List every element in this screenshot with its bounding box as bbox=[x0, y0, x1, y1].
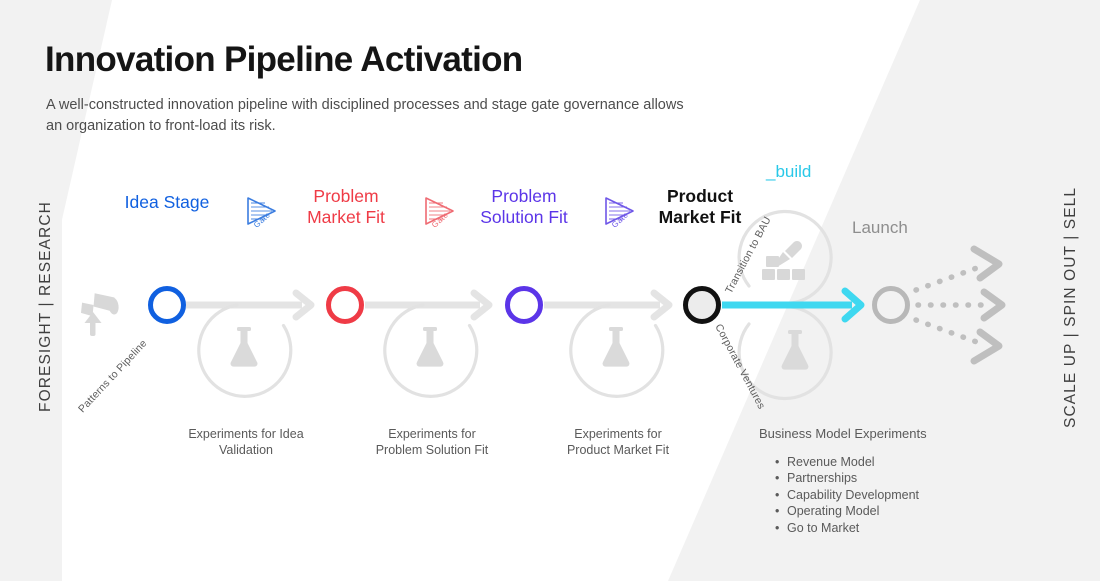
trowel-bricks-icon bbox=[762, 241, 805, 280]
stage-label-idea-stage: Idea Stage bbox=[97, 192, 237, 213]
flask-icon-build bbox=[782, 330, 809, 370]
diagram-canvas: Innovation Pipeline Activation A well-co… bbox=[0, 0, 1100, 581]
node-idea-stage[interactable] bbox=[148, 286, 186, 324]
stage-label-problem-solution-fit: Problem Solution Fit bbox=[459, 186, 589, 229]
experiment-caption-idea-validation: Experiments for Idea Validation bbox=[168, 426, 324, 459]
business-model-list: Revenue Model Partnerships Capability De… bbox=[775, 454, 919, 536]
list-item: Go to Market bbox=[775, 520, 919, 536]
experiment-caption-problem-solution-fit: Experiments for Problem Solution Fit bbox=[354, 426, 510, 459]
launch-label: Launch bbox=[852, 218, 908, 238]
stage-label-problem-market-fit: Problem Market Fit bbox=[281, 186, 411, 229]
business-model-title: Business Model Experiments bbox=[759, 426, 927, 441]
node-launch[interactable] bbox=[872, 286, 910, 324]
experiment-caption-product-market-fit: Experiments for Product Market Fit bbox=[540, 426, 696, 459]
build-label: _build bbox=[766, 162, 811, 182]
list-item: Capability Development bbox=[775, 487, 919, 503]
list-item: Partnerships bbox=[775, 470, 919, 486]
node-problem-solution-fit[interactable] bbox=[505, 286, 543, 324]
gate-icon-3: Gate bbox=[603, 196, 641, 240]
gate-icon-2: Gate bbox=[423, 196, 461, 240]
list-item: Operating Model bbox=[775, 503, 919, 519]
stage-label-product-market-fit: Product Market Fit bbox=[635, 186, 765, 229]
list-item: Revenue Model bbox=[775, 454, 919, 470]
node-product-market-fit[interactable] bbox=[683, 286, 721, 324]
gate-icon-1: Gate bbox=[245, 196, 283, 240]
node-problem-market-fit[interactable] bbox=[326, 286, 364, 324]
build-arrow bbox=[722, 291, 861, 319]
